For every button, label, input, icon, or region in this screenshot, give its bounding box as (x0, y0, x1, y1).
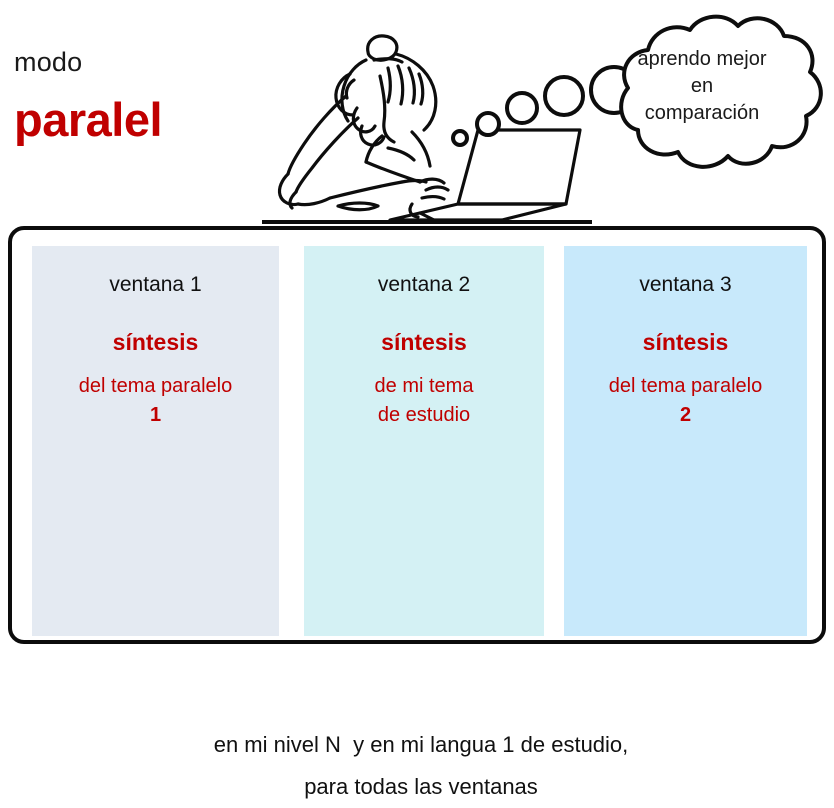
window-column-3[interactable]: ventana 3 síntesis del tema paralelo 2 (564, 246, 807, 636)
thought-bubble-line-1: aprendo mejor (604, 46, 800, 73)
footer-note-line-2: para todas las ventanas (12, 766, 830, 808)
thought-dot-1 (453, 131, 467, 145)
thought-bubble: aprendo mejor en comparación (440, 6, 834, 184)
window-1-desc-line-1: del tema paralelo (32, 372, 279, 401)
thought-bubble-text: aprendo mejor en comparación (604, 46, 800, 127)
window-1-title: ventana 1 (32, 272, 279, 298)
windows-columns: ventana 1 síntesis del tema paralelo 1 v… (32, 246, 807, 636)
window-2-desc-line-1: de mi tema (304, 372, 544, 401)
thought-bubble-line-3: comparación (604, 100, 800, 127)
window-1-synthesis: síntesis (32, 328, 279, 356)
window-1-description: del tema paralelo 1 (32, 372, 279, 430)
window-3-desc-line-2: 2 (564, 401, 807, 430)
panel-footer-note: en mi nivel N y en mi langua 1 de estudi… (12, 724, 830, 808)
thought-bubble-line-2: en (604, 73, 800, 100)
header-area: modo paralel (0, 0, 834, 226)
window-3-description: del tema paralelo 2 (564, 372, 807, 430)
window-2-title: ventana 2 (304, 272, 544, 298)
window-2-synthesis: síntesis (304, 328, 544, 356)
windows-panel: ventana 1 síntesis del tema paralelo 1 v… (8, 226, 826, 644)
mode-name: paralel (14, 92, 162, 148)
window-2-desc-line-2: de estudio (304, 401, 544, 430)
window-3-title: ventana 3 (564, 272, 807, 298)
window-1-desc-line-2: 1 (32, 401, 279, 430)
window-3-desc-line-1: del tema paralelo (564, 372, 807, 401)
mode-label: modo (14, 46, 82, 78)
footer-note-line-1: en mi nivel N y en mi langua 1 de estudi… (12, 724, 830, 766)
window-column-1[interactable]: ventana 1 síntesis del tema paralelo 1 (32, 246, 279, 636)
window-column-2[interactable]: ventana 2 síntesis de mi tema de estudio (304, 246, 544, 636)
thought-dot-4 (545, 77, 583, 115)
thought-dot-2 (477, 113, 499, 135)
thought-dot-3 (507, 93, 537, 123)
window-2-description: de mi tema de estudio (304, 372, 544, 430)
window-3-synthesis: síntesis (564, 328, 807, 356)
